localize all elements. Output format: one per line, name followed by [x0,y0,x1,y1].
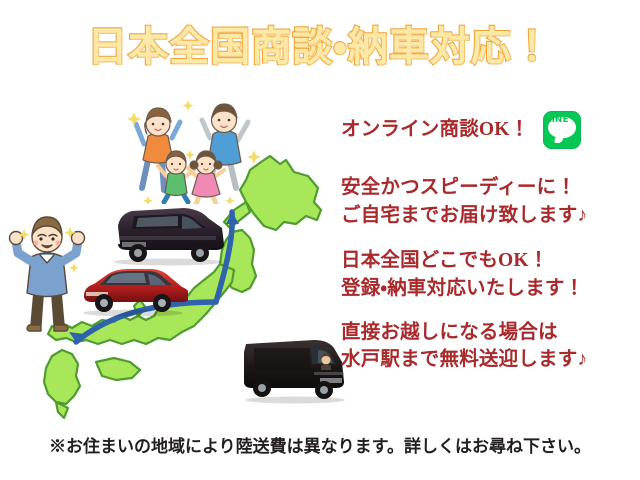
red-sedan-photo [78,252,188,320]
message-nationwide-line-2: 登録・納車対応いたします！ [341,275,637,303]
page-title: 日本全国商談・納車対応！ [0,24,640,70]
message-column: オンライン商談OK！ LINE 安全かつスピーディーに！ ご自宅までお届け致しま… [341,108,637,376]
message-delivery-line-1: 安全かつスピーディーに！ [341,174,637,202]
footer-disclaimer: ※お住まいの地域により陸送費は異なります。詳しくはお尋ね下さい。 [0,432,640,457]
black-van-with-driver-photo [240,334,350,404]
jumping-family-illustration [118,92,268,204]
spacer-3 [341,305,637,319]
message-pickup-line-2: 水戸駅まで無料送迎します♪ [341,346,637,374]
message-delivery: 安全かつスピーディーに！ ご自宅までお届け致します♪ [341,174,637,229]
message-delivery-line-2: ご自宅までお届け致します♪ [341,202,637,230]
message-pickup-line-1: 直接お越しになる場合は [341,319,637,347]
message-nationwide-line-1: 日本全国どこでもOK！ [341,247,637,275]
line-icon-label: LINE [543,115,571,125]
promo-poster: 日本全国商談・納車対応！ [0,0,640,480]
spacer-1 [341,152,637,174]
line-app-icon[interactable]: LINE [543,111,581,149]
spacer-2 [341,231,637,247]
message-online-line-1: オンライン商談OK！ [341,116,529,144]
message-online: オンライン商談OK！ LINE [341,108,637,152]
message-pickup: 直接お越しになる場合は 水戸駅まで無料送迎します♪ [341,319,637,374]
message-nationwide: 日本全国どこでもOK！ 登録・納車対応いたします！ [341,247,637,302]
